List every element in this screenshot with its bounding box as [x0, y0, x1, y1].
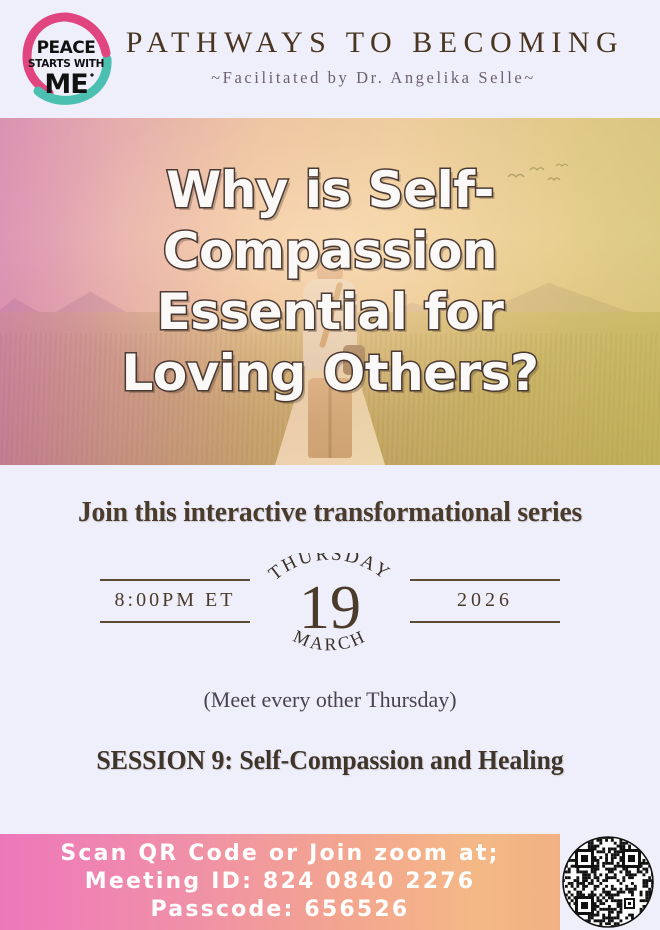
- flyer-header: PEACE STARTS WITH ME PATHWAYS TO BECOMIN…: [0, 0, 660, 118]
- event-time-label: 8:00PM ET: [100, 581, 250, 621]
- time-rule-bottom: [100, 621, 250, 623]
- hero-headline-line-1: Why is Self-Compassion: [0, 160, 660, 282]
- month-arc: MARCH: [235, 553, 425, 673]
- event-day-wrap: THURSDAY 19 MARCH: [235, 553, 425, 673]
- page-title: PATHWAYS TO BECOMING: [114, 26, 630, 61]
- zoom-details-text: Scan QR Code or Join zoom at; Meeting ID…: [60, 840, 499, 924]
- event-year-label: 2026: [410, 581, 560, 621]
- facilitator-subtitle: ~Facilitated by Dr. Angelika Selle~: [114, 68, 630, 88]
- qr-code-holder[interactable]: [558, 834, 658, 930]
- flyer-footer: Scan QR Code or Join zoom at; Meeting ID…: [0, 834, 660, 930]
- event-time: 8:00PM ET: [100, 579, 250, 623]
- hero-headline: Why is Self-Compassion Essential for Lov…: [0, 160, 660, 404]
- event-date-block: 8:00PM ET THURSDAY 19 MARCH: [0, 553, 660, 673]
- hero-banner: Why is Self-Compassion Essential for Lov…: [0, 118, 660, 465]
- year-rule-bottom: [410, 621, 560, 623]
- svg-text:ME: ME: [44, 69, 87, 100]
- svg-text:PEACE: PEACE: [37, 38, 96, 58]
- event-month-label: MARCH: [290, 626, 369, 655]
- zoom-details-bar: Scan QR Code or Join zoom at; Meeting ID…: [0, 834, 560, 930]
- join-series-line: Join this interactive transformational s…: [17, 496, 644, 529]
- header-text-block: PATHWAYS TO BECOMING ~Facilitated by Dr.…: [114, 26, 660, 89]
- hero-headline-line-3: Loving Others?: [0, 343, 660, 404]
- zoom-scan-line: Scan QR Code or Join zoom at;: [60, 840, 499, 868]
- peace-starts-with-me-logo: PEACE STARTS WITH ME: [18, 11, 114, 107]
- event-year: 2026: [410, 579, 560, 623]
- qr-code[interactable]: [562, 836, 654, 928]
- hero-headline-line-2: Essential for: [0, 282, 660, 343]
- session-title: SESSION 9: Self-Compassion and Healing: [13, 745, 647, 776]
- zoom-passcode: Passcode: 656526: [60, 896, 499, 924]
- zoom-meeting-id: Meeting ID: 824 0840 2276: [60, 868, 499, 896]
- cadence-note: (Meet every other Thursday): [0, 687, 660, 713]
- flyer-page: PEACE STARTS WITH ME PATHWAYS TO BECOMIN…: [0, 0, 660, 930]
